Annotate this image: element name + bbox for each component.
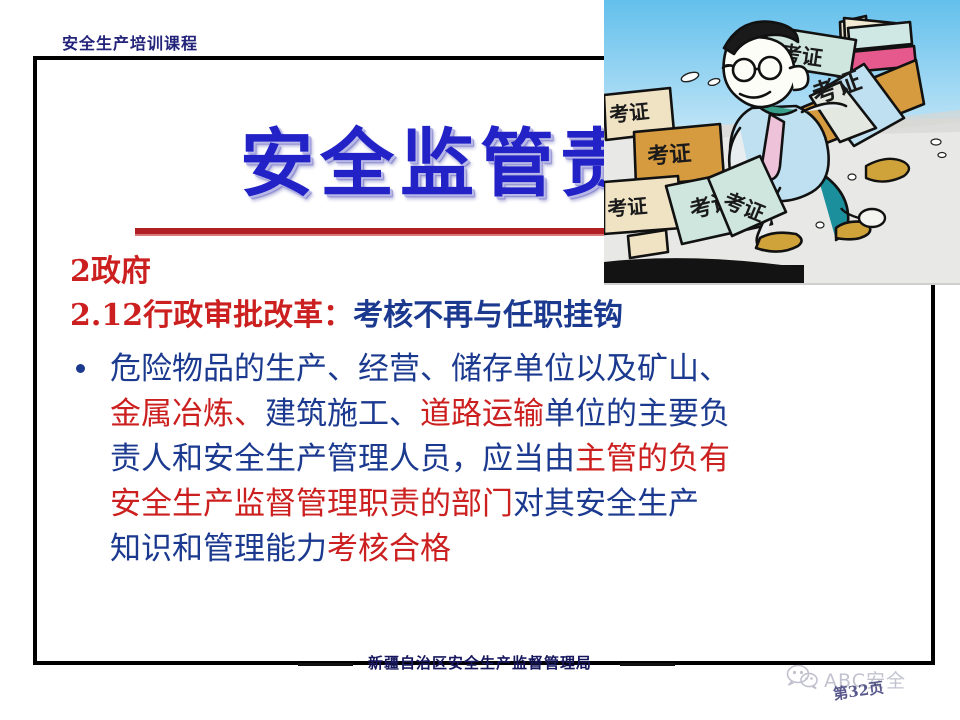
- svg-text:考证: 考证: [606, 194, 648, 221]
- heading-2-red-text: 行政审批改革：: [143, 298, 353, 333]
- heading-1-text: 政府: [91, 254, 151, 289]
- bullet-run: 责人和安全生产管理人员，应当由: [110, 441, 575, 477]
- bullet-run: 知识和管理能力: [110, 531, 327, 567]
- bullet-run: 安全生产监督管理职责的部门: [110, 486, 513, 522]
- heading-1-number: 2: [70, 254, 91, 289]
- bullet-line-5: 知识和管理能力考核合格: [110, 527, 900, 572]
- bullet-paragraph: 危险物品的生产、经营、储存单位以及矿山、 金属冶炼、建筑施工、道路运输单位的主要…: [110, 347, 900, 572]
- slide-canvas: 安全生产培训课程 安全监管责任 2政府 2.12行政审批改革：考核不再与任职挂钩…: [0, 0, 960, 720]
- wechat-icon: [786, 664, 818, 694]
- bullet-run: 主管的负有: [575, 441, 730, 477]
- bullet-item: 危险物品的生产、经营、储存单位以及矿山、 金属冶炼、建筑施工、道路运输单位的主要…: [70, 347, 900, 572]
- bullet-run: 考核合格: [327, 531, 451, 567]
- bullet-run: 单位的主要负: [544, 396, 730, 432]
- heading-2-blue-text: 考核不再与任职挂钩: [353, 298, 623, 333]
- heading-line-2: 2.12行政审批改革：考核不再与任职挂钩: [70, 294, 900, 338]
- bullet-run: 对其安全生产: [513, 486, 699, 522]
- svg-text:考证: 考证: [608, 99, 650, 127]
- bullet-line-1: 危险物品的生产、经营、储存单位以及矿山、: [110, 347, 900, 392]
- bullet-line-2: 金属冶炼、建筑施工、道路运输单位的主要负: [110, 392, 900, 437]
- bullet-line-4: 安全生产监督管理职责的部门对其安全生产: [110, 482, 900, 527]
- svg-text:考证: 考证: [646, 141, 692, 170]
- bullet-run: 危险物品的生产、经营、储存单位以及矿山、: [110, 351, 730, 387]
- illustration-cartoon-exam-certificates: 考证 考证 考证 考证 考证 考证: [604, 0, 960, 285]
- heading-2-number: 2.12: [70, 298, 143, 333]
- bullet-line-3: 责人和安全生产管理人员，应当由主管的负有: [110, 437, 900, 482]
- footer-rule-right: [620, 663, 675, 666]
- bullet-dot-icon: [76, 364, 85, 373]
- bullet-run: 金属冶炼、: [110, 396, 265, 432]
- bullet-run: 建筑施工、: [265, 396, 420, 432]
- bullet-run: 道路运输: [420, 396, 544, 432]
- course-kicker: 安全生产培训课程: [62, 30, 198, 54]
- body-content: 2政府 2.12行政审批改革：考核不再与任职挂钩 危险物品的生产、经营、储存单位…: [70, 250, 900, 572]
